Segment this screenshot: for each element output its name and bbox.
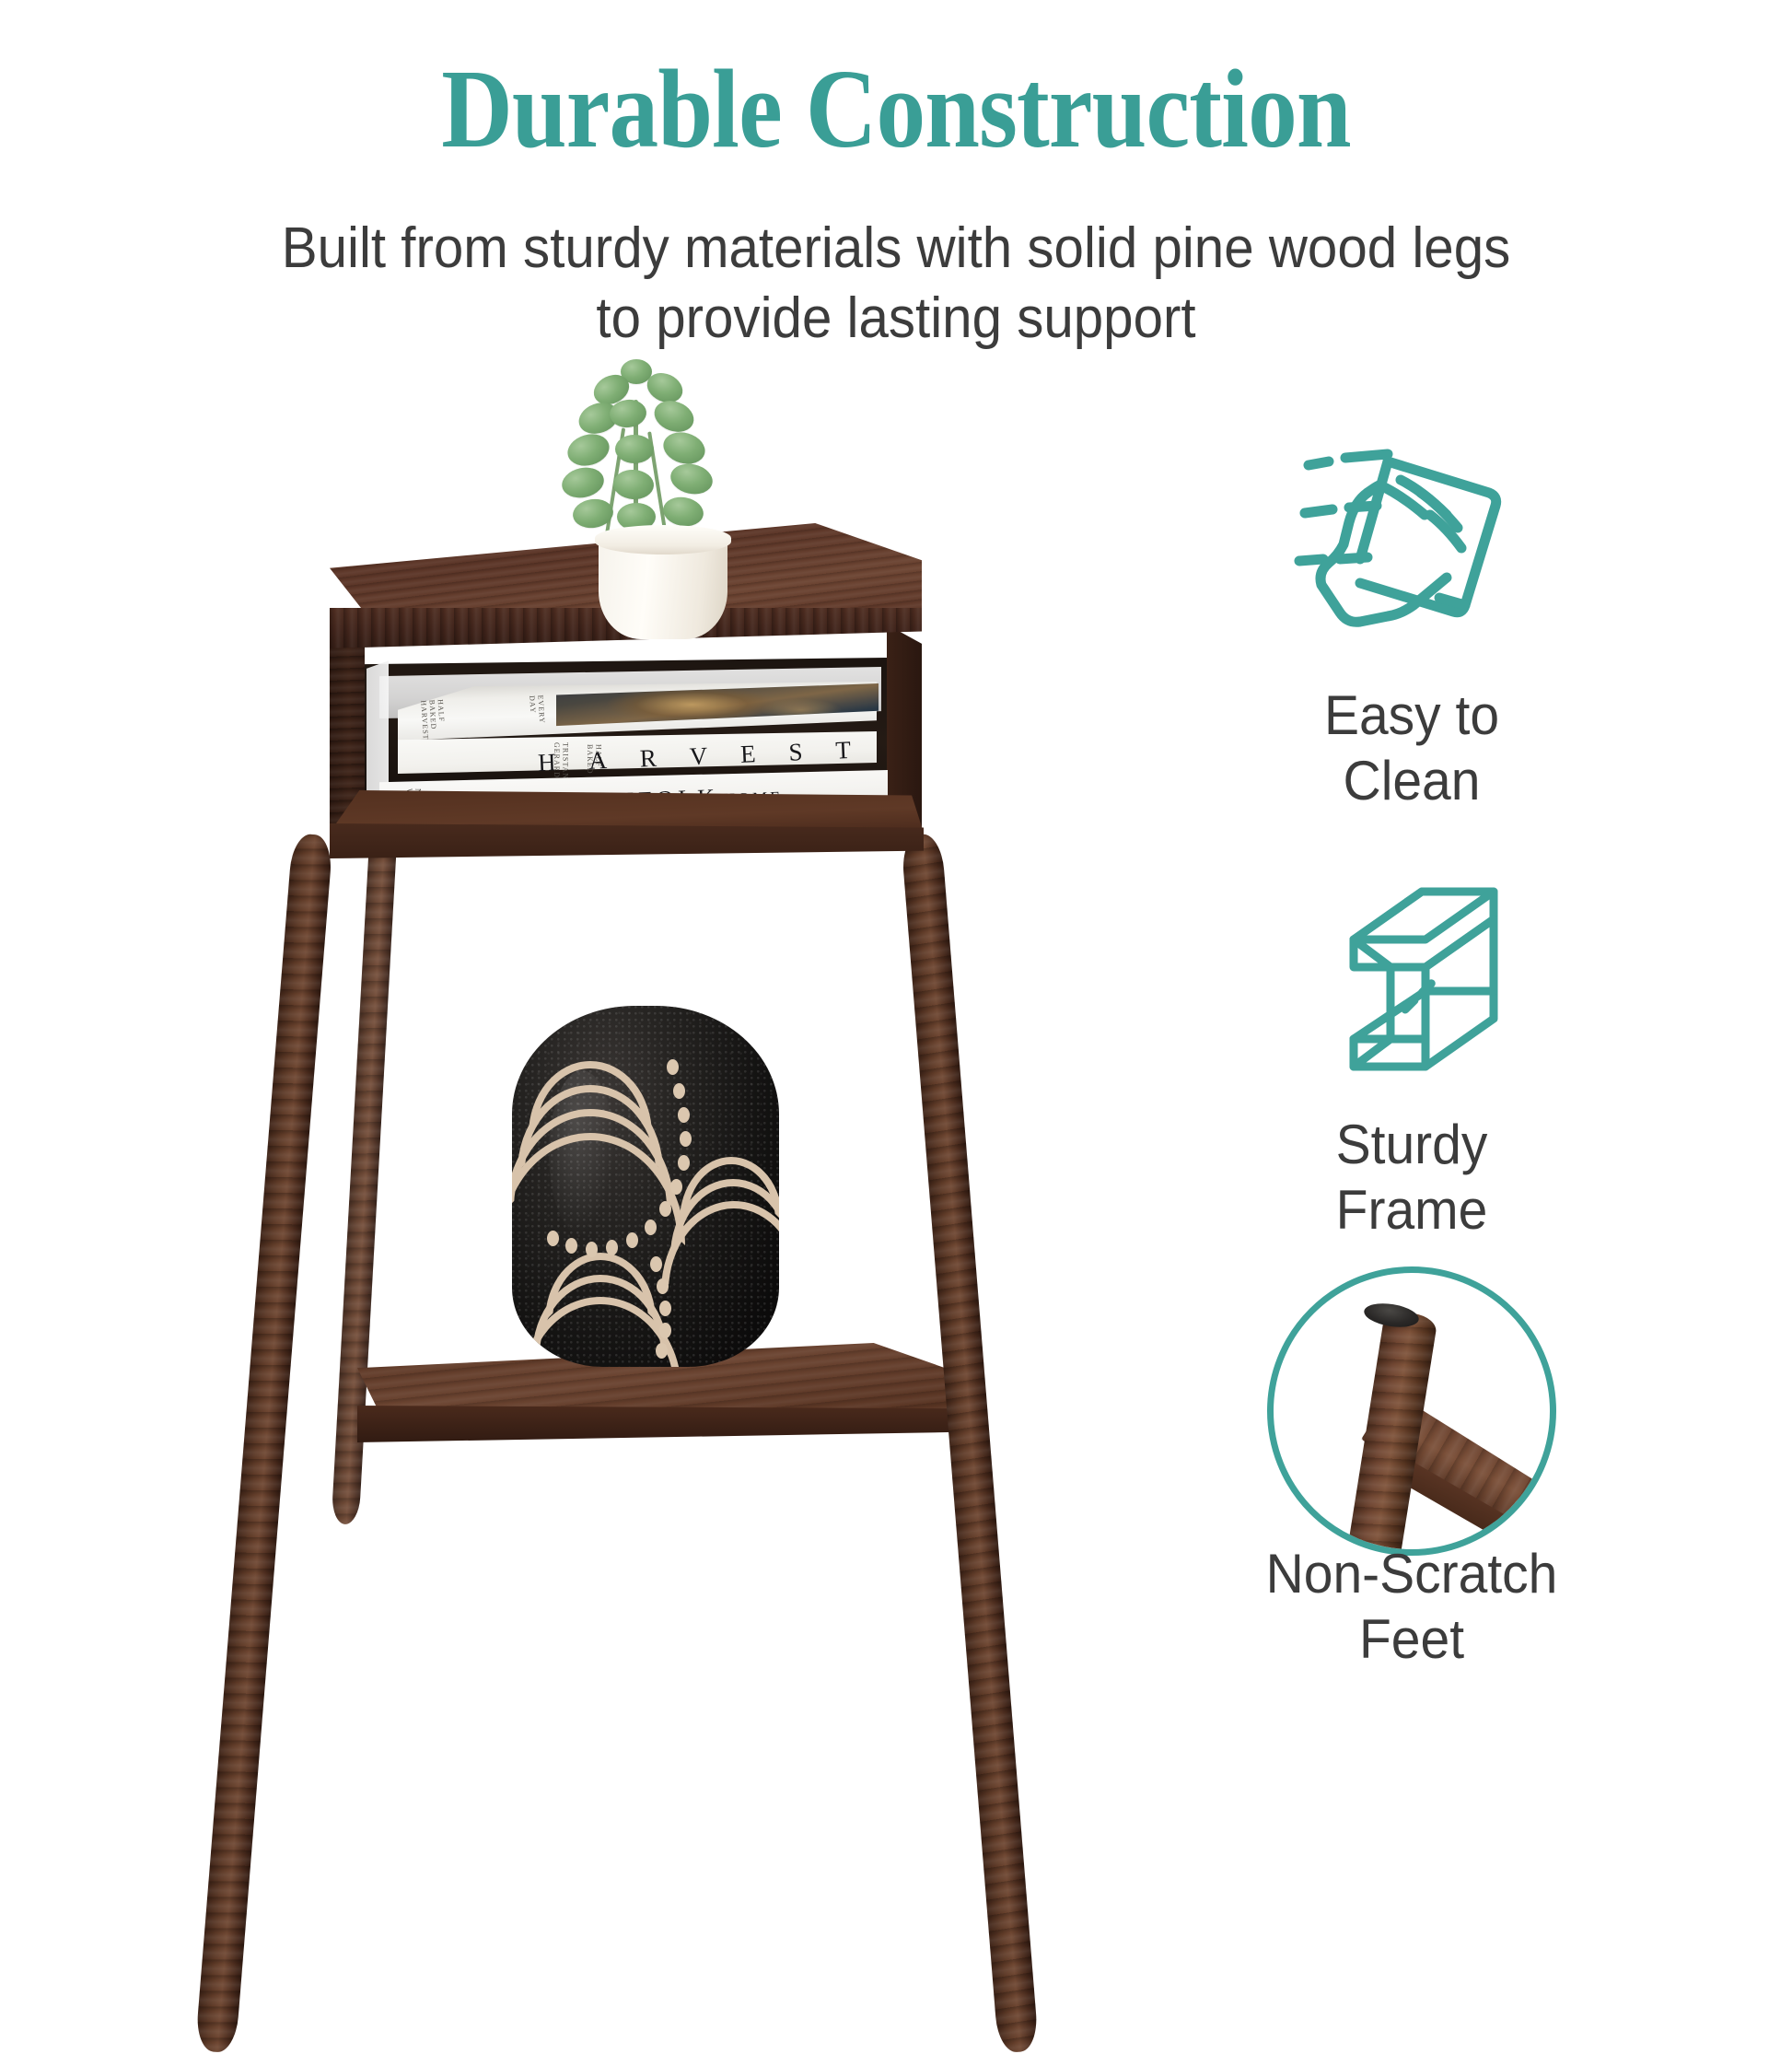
potted-plant	[525, 350, 746, 626]
vase-dot	[670, 1179, 682, 1195]
feature-list: Easy to Clean	[1031, 433, 1792, 1722]
subtitle-line-1: Built from sturdy materials with solid p…	[53, 214, 1738, 284]
vase-dot	[650, 1256, 662, 1272]
wood-grain-texture	[195, 833, 333, 2053]
shelf-base-front-edge	[330, 823, 924, 858]
vase-dot	[667, 1059, 679, 1075]
header-block: Durable Construction Built from sturdy m…	[0, 0, 1792, 353]
plant-leaf	[659, 427, 708, 468]
feature-label-easy-to-clean: Easy to Clean	[1051, 683, 1774, 814]
vase-dot	[659, 1323, 671, 1338]
non-scratch-foot-photo-icon	[1031, 1291, 1792, 1531]
harvest-letter: V	[689, 741, 708, 771]
feature-sturdy-frame: Sturdy Frame	[1031, 862, 1792, 1243]
harvest-letter: H	[538, 748, 557, 777]
table-leg-front-right	[901, 833, 1039, 2053]
foot-detail-photo-circle	[1267, 1266, 1556, 1556]
feature-label-line-2: Clean	[1051, 749, 1774, 814]
book-jacket-title: HALF BAKED HARVEST	[419, 699, 447, 732]
table-leg-front-left	[195, 833, 333, 2053]
vase-dot	[659, 1201, 671, 1217]
harvest-letter: S	[788, 738, 803, 767]
plant-pot-rim	[595, 525, 731, 554]
feature-label-non-scratch-feet: Non-Scratch Feet	[1051, 1542, 1774, 1673]
i-beam-isometric-icon	[1031, 862, 1792, 1102]
vase-dot	[678, 1155, 690, 1171]
vase-dot	[547, 1231, 559, 1246]
feature-label-line-2: Feet	[1051, 1607, 1774, 1673]
feature-label-line-2: Frame	[1051, 1178, 1774, 1243]
plant-leaf	[615, 435, 654, 463]
plant-leaf	[668, 461, 716, 498]
harvest-letter: T	[835, 735, 852, 764]
feature-label-sturdy-frame: Sturdy Frame	[1051, 1113, 1774, 1243]
vase-dot	[659, 1301, 671, 1316]
vase-dot	[626, 1232, 638, 1248]
plant-leaf	[650, 395, 698, 437]
vase-dot	[645, 1220, 657, 1235]
feature-non-scratch-feet: Non-Scratch Feet	[1031, 1291, 1792, 1673]
wood-grain-texture	[901, 833, 1039, 2053]
lower-shelf-front-edge	[357, 1406, 958, 1442]
plant-leaf	[559, 464, 607, 502]
vase-dot	[657, 1278, 669, 1294]
feature-label-line-1: Sturdy	[1051, 1113, 1774, 1178]
plant-leaf	[661, 494, 706, 529]
vase-dot	[606, 1240, 618, 1255]
vase-dot	[678, 1107, 690, 1123]
plant-leaf	[612, 469, 655, 501]
harvest-letter: A	[588, 745, 608, 775]
harvest-letter: R	[639, 743, 657, 773]
feature-label-line-1: Easy to	[1051, 683, 1774, 749]
vase-body	[512, 1006, 779, 1367]
vase-dot	[673, 1083, 685, 1099]
vase-dot	[656, 1343, 668, 1359]
vase-dot	[680, 1131, 692, 1147]
decorative-vase	[512, 980, 779, 1367]
vase-dot	[586, 1242, 598, 1257]
plant-leaf	[564, 429, 612, 470]
vase-dot	[565, 1238, 577, 1254]
product-photo: HALF BAKED HARVEST EVERY DAY TRISTAN GER…	[0, 313, 1031, 1792]
hand-wiping-cloth-icon	[1031, 433, 1792, 672]
feature-easy-to-clean: Easy to Clean	[1031, 433, 1792, 814]
page-title: Durable Construction	[108, 53, 1684, 166]
feature-label-line-1: Non-Scratch	[1051, 1542, 1774, 1607]
harvest-letter: E	[739, 740, 756, 769]
book-edge-note: EVERY DAY	[528, 694, 546, 721]
